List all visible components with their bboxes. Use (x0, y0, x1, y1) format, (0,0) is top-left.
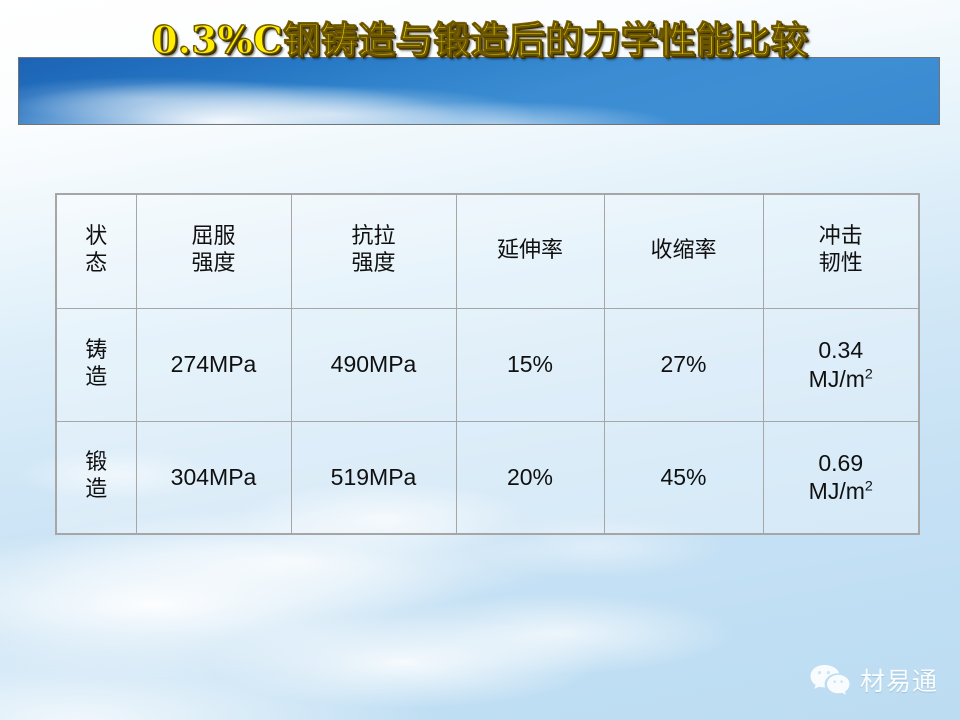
title-banner (18, 57, 940, 125)
mechanical-properties-table: 状 态 屈服 强度 抗拉 强度 延伸率 收缩率 冲击 韧性 (55, 193, 920, 535)
cell-state: 铸 造 (56, 308, 136, 421)
impact-unit: MJ/m2 (768, 365, 915, 394)
cell-tensile-strength: 490MPa (291, 308, 456, 421)
header-line-1: 屈服 (141, 224, 287, 251)
watermark-label: 材易通 (860, 662, 938, 698)
state-line-1: 铸 (61, 338, 132, 365)
header-line-2: 强度 (141, 251, 287, 278)
slide-canvas: 0.3%C钢铸造与锻造后的力学性能比较 状 态 屈服 强度 抗拉 强度 (0, 0, 960, 720)
column-header-impact-toughness: 冲击 韧性 (763, 194, 919, 308)
impact-unit-base: MJ/m (809, 366, 865, 392)
cell-state: 锻 造 (56, 421, 136, 534)
wechat-icon (809, 663, 851, 697)
header-line-1: 抗拉 (296, 224, 452, 251)
header-line-2: 态 (61, 251, 132, 278)
header-line-1: 冲击 (768, 224, 915, 251)
header-line-2: 韧性 (768, 251, 915, 278)
impact-unit-exponent: 2 (865, 366, 873, 382)
watermark: 材易通 (809, 662, 938, 698)
column-header-elongation: 延伸率 (456, 194, 604, 308)
header-line-2: 强度 (296, 251, 452, 278)
cell-reduction: 45% (604, 421, 763, 534)
cell-yield-strength: 274MPa (136, 308, 291, 421)
table-row: 铸 造 274MPa 490MPa 15% 27% 0.34 MJ/m2 (56, 308, 919, 421)
column-header-state: 状 态 (56, 194, 136, 308)
table-header-row: 状 态 屈服 强度 抗拉 强度 延伸率 收缩率 冲击 韧性 (56, 194, 919, 308)
state-line-2: 造 (61, 365, 132, 392)
column-header-reduction: 收缩率 (604, 194, 763, 308)
table-row: 锻 造 304MPa 519MPa 20% 45% 0.69 MJ/m2 (56, 421, 919, 534)
impact-value: 0.34 (768, 336, 915, 365)
impact-value: 0.69 (768, 449, 915, 478)
state-line-1: 锻 (61, 450, 132, 477)
cell-elongation: 15% (456, 308, 604, 421)
cell-reduction: 27% (604, 308, 763, 421)
column-header-yield-strength: 屈服 强度 (136, 194, 291, 308)
cell-elongation: 20% (456, 421, 604, 534)
impact-unit-base: MJ/m (809, 478, 865, 504)
header-line-1: 状 (61, 224, 132, 251)
cell-tensile-strength: 519MPa (291, 421, 456, 534)
cell-yield-strength: 304MPa (136, 421, 291, 534)
impact-unit: MJ/m2 (768, 477, 915, 506)
state-line-2: 造 (61, 477, 132, 504)
cell-impact-toughness: 0.34 MJ/m2 (763, 308, 919, 421)
cell-impact-toughness: 0.69 MJ/m2 (763, 421, 919, 534)
page-title: 0.3%C钢铸造与锻造后的力学性能比较 (0, 10, 960, 64)
column-header-tensile-strength: 抗拉 强度 (291, 194, 456, 308)
impact-unit-exponent: 2 (865, 479, 873, 495)
